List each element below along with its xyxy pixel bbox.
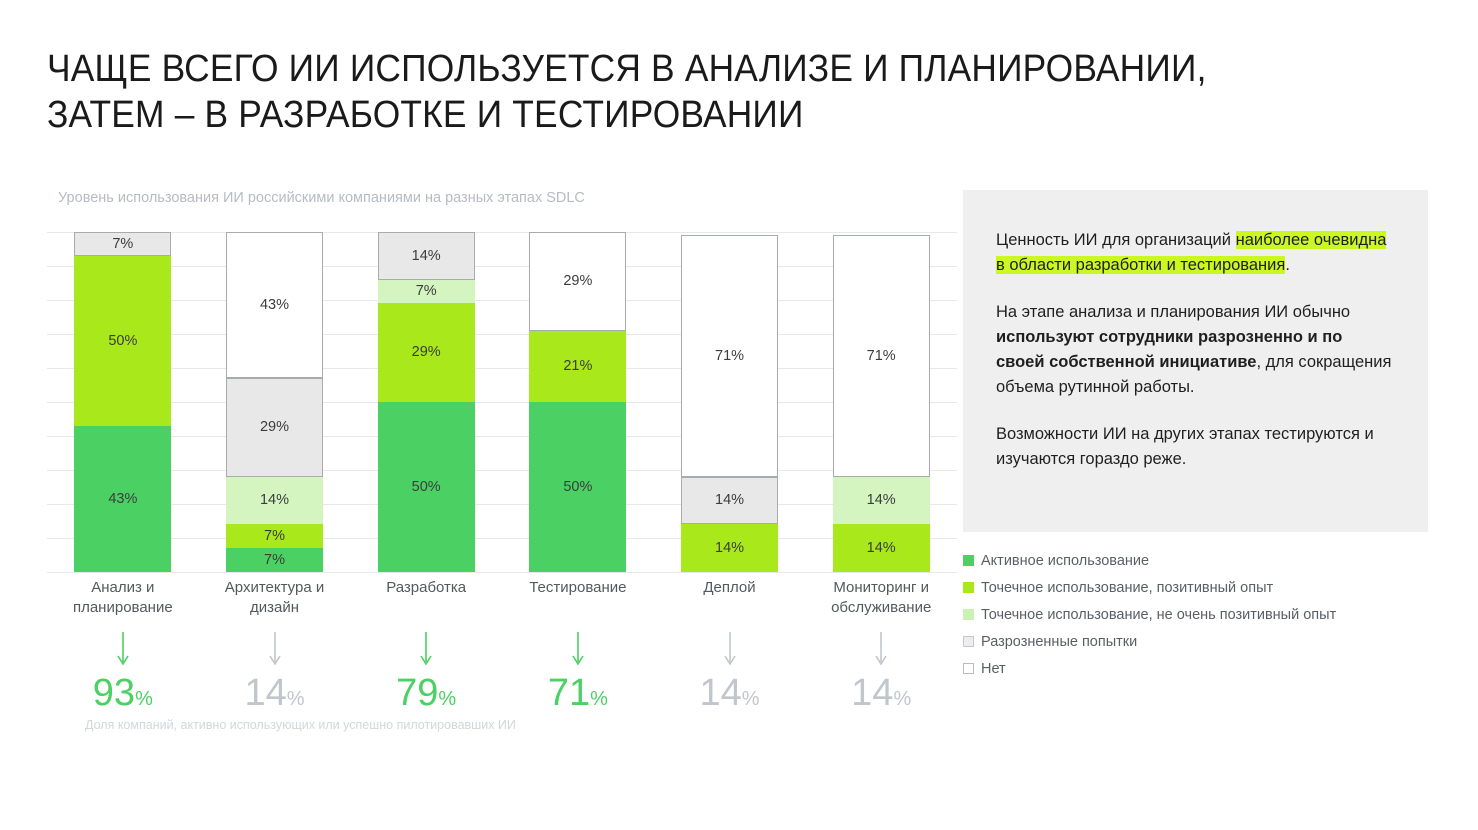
total-number: 71: [548, 672, 590, 714]
legend-swatch-icon: [963, 582, 974, 593]
total-cell: 14%: [805, 630, 957, 718]
stacked-bar[interactable]: 7%50%43%: [74, 232, 171, 572]
insight-paragraph-3: Возможности ИИ на других этапах тестирую…: [996, 422, 1395, 472]
bar-segment-active[interactable]: 7%: [226, 548, 323, 572]
stacked-bar[interactable]: 71%14%14%: [681, 232, 778, 572]
bar-segment-label: 14%: [867, 541, 896, 556]
category-label: Архитектура и дизайн: [199, 578, 351, 618]
bar-slot: 7%50%43%: [47, 232, 199, 572]
total-percent-sign: %: [438, 688, 456, 710]
bar-segment-active[interactable]: 50%: [529, 402, 626, 572]
bar-slot: 71%14%14%: [805, 232, 957, 572]
total-percent-sign: %: [590, 688, 608, 710]
bar-segment-spot_neg[interactable]: 14%: [833, 477, 930, 525]
bar-segment-scatter[interactable]: 14%: [378, 232, 475, 280]
insight-paragraph-2: На этапе анализа и планирования ИИ обычн…: [996, 300, 1395, 400]
category-label: Анализ и планирование: [47, 578, 199, 618]
total-percent-sign: %: [287, 688, 305, 710]
bar-segment-none[interactable]: 71%: [833, 235, 930, 476]
bar-segment-label: 71%: [867, 349, 896, 364]
total-number: 14: [244, 672, 286, 714]
bar-segment-spot_pos[interactable]: 50%: [74, 256, 171, 426]
chart-category-axis: Анализ и планированиеАрхитектура и дизай…: [47, 578, 957, 618]
arrow-down-icon: [418, 630, 434, 670]
bar-segment-active[interactable]: 50%: [378, 402, 475, 572]
total-number: 14: [699, 672, 741, 714]
total-number: 14: [851, 672, 893, 714]
bar-segment-label: 7%: [416, 284, 437, 299]
bar-segment-scatter[interactable]: 14%: [681, 477, 778, 525]
category-label: Мониторинг и обслуживание: [805, 578, 957, 618]
chart-total-row: 93%14%79%71%14%14%: [47, 630, 957, 718]
chart-block: Уровень использования ИИ российскими ком…: [47, 190, 957, 750]
stacked-bar[interactable]: 14%7%29%50%: [378, 232, 475, 572]
insights-panel: Ценность ИИ для организаций наиболее оче…: [963, 190, 1428, 532]
total-value: 14%: [244, 674, 304, 718]
total-percent-sign: %: [742, 688, 760, 710]
legend-item-scatter[interactable]: Разрозненные попытки: [963, 628, 1433, 655]
total-value: 14%: [699, 674, 759, 718]
bar-slot: 43%29%14%7%7%: [199, 232, 351, 572]
chart-plot-area: 7%50%43%43%29%14%7%7%14%7%29%50%29%21%50…: [47, 232, 957, 572]
bar-segment-label: 50%: [563, 480, 592, 495]
bar-segment-scatter[interactable]: 7%: [74, 232, 171, 256]
bar-segment-label: 14%: [260, 493, 289, 508]
bar-slot: 71%14%14%: [654, 232, 806, 572]
total-value: 14%: [851, 674, 911, 718]
insight-2-plain-start: На этапе анализа и планирования ИИ обычн…: [996, 303, 1350, 321]
page-title: ЧАЩЕ ВСЕГО ИИ ИСПОЛЬЗУЕТСЯ В АНАЛИЗЕ И П…: [47, 46, 1293, 138]
insight-1-plain-start: Ценность ИИ для организаций: [996, 231, 1236, 249]
total-cell: 14%: [199, 630, 351, 718]
legend-item-spot_pos[interactable]: Точечное использование, позитивный опыт: [963, 574, 1433, 601]
legend-label: Разрозненные попытки: [981, 634, 1137, 650]
arrow-down-icon: [115, 630, 131, 670]
legend-label: Точечное использование, не очень позитив…: [981, 607, 1336, 623]
legend-label: Активное использование: [981, 553, 1149, 569]
bar-segment-label: 7%: [264, 553, 285, 568]
bar-segment-label: 14%: [715, 493, 744, 508]
stacked-bar[interactable]: 29%21%50%: [529, 232, 626, 572]
stacked-bar[interactable]: 43%29%14%7%7%: [226, 232, 323, 572]
bar-segment-none[interactable]: 71%: [681, 235, 778, 476]
legend-item-none[interactable]: Нет: [963, 655, 1433, 682]
bar-segment-none[interactable]: 29%: [529, 232, 626, 331]
arrow-down-icon: [570, 630, 586, 670]
chart-footnote: Доля компаний, активно использующих или …: [85, 718, 516, 732]
chart-legend: Активное использованиеТочечное использов…: [963, 547, 1433, 682]
bar-segment-spot_neg[interactable]: 14%: [226, 477, 323, 525]
total-number: 93: [93, 672, 135, 714]
legend-swatch-icon: [963, 609, 974, 620]
arrow-down-icon: [722, 630, 738, 670]
legend-item-active[interactable]: Активное использование: [963, 547, 1433, 574]
stacked-bar[interactable]: 71%14%14%: [833, 232, 930, 572]
bar-segment-scatter[interactable]: 29%: [226, 378, 323, 477]
bar-slot: 14%7%29%50%: [350, 232, 502, 572]
bar-segment-label: 43%: [108, 492, 137, 507]
bar-segment-label: 50%: [412, 480, 441, 495]
total-cell: 14%: [654, 630, 806, 718]
bar-segment-spot_pos[interactable]: 14%: [681, 524, 778, 572]
bar-segment-label: 14%: [412, 249, 441, 264]
chart-bars: 7%50%43%43%29%14%7%7%14%7%29%50%29%21%50…: [47, 232, 957, 572]
total-number: 79: [396, 672, 438, 714]
chart-subtitle: Уровень использования ИИ российскими ком…: [58, 190, 585, 206]
category-label: Тестирование: [502, 578, 654, 618]
total-percent-sign: %: [135, 688, 153, 710]
total-value: 71%: [548, 674, 608, 718]
legend-swatch-icon: [963, 636, 974, 647]
bar-segment-label: 21%: [563, 359, 592, 374]
legend-label: Точечное использование, позитивный опыт: [981, 580, 1273, 596]
bar-segment-active[interactable]: 43%: [74, 426, 171, 572]
category-label: Разработка: [350, 578, 502, 618]
insight-paragraph-1: Ценность ИИ для организаций наиболее оче…: [996, 228, 1395, 278]
bar-segment-label: 14%: [715, 541, 744, 556]
total-value: 79%: [396, 674, 456, 718]
total-cell: 71%: [502, 630, 654, 718]
bar-segment-spot_pos[interactable]: 21%: [529, 331, 626, 402]
bar-segment-spot_pos[interactable]: 14%: [833, 524, 930, 572]
gridline: [47, 572, 957, 573]
insight-1-plain-end: .: [1285, 256, 1290, 274]
legend-swatch-icon: [963, 663, 974, 674]
total-cell: 93%: [47, 630, 199, 718]
bar-segment-label: 29%: [563, 274, 592, 289]
bar-segment-label: 29%: [260, 420, 289, 435]
total-percent-sign: %: [893, 688, 911, 710]
category-label: Деплой: [654, 578, 806, 618]
legend-item-spot_neg[interactable]: Точечное использование, не очень позитив…: [963, 601, 1433, 628]
bar-segment-none[interactable]: 43%: [226, 232, 323, 378]
arrow-down-icon: [267, 630, 283, 670]
bar-segment-label: 43%: [260, 298, 289, 313]
bar-segment-spot_neg[interactable]: 7%: [378, 280, 475, 304]
bar-segment-spot_pos[interactable]: 7%: [226, 524, 323, 548]
bar-segment-label: 50%: [108, 334, 137, 349]
arrow-down-icon: [873, 630, 889, 670]
bar-segment-label: 29%: [412, 345, 441, 360]
legend-swatch-icon: [963, 555, 974, 566]
bar-slot: 29%21%50%: [502, 232, 654, 572]
total-value: 93%: [93, 674, 153, 718]
bar-segment-label: 7%: [264, 529, 285, 544]
bar-segment-label: 7%: [112, 237, 133, 252]
bar-segment-label: 14%: [867, 493, 896, 508]
bar-segment-spot_pos[interactable]: 29%: [378, 303, 475, 402]
bar-segment-label: 71%: [715, 349, 744, 364]
total-cell: 79%: [350, 630, 502, 718]
legend-label: Нет: [981, 661, 1006, 677]
